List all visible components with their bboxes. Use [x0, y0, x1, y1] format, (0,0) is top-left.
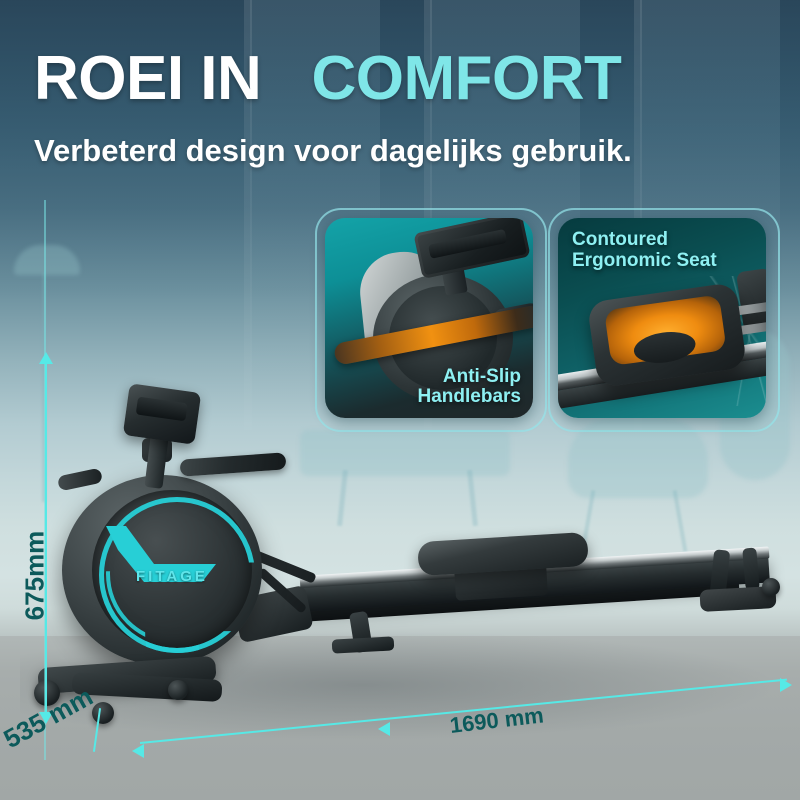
mid-foot [332, 636, 395, 653]
console-display [123, 383, 202, 445]
brand-logo-text: FITAGE [136, 568, 208, 585]
depth-arrow-left [378, 722, 390, 736]
transport-wheel [168, 680, 188, 700]
feature-label-line-2: Ergonomic Seat [572, 251, 717, 272]
feature-card-label-seat: Contoured Ergonomic Seat [572, 230, 717, 271]
headline-part-2: COMFORT [312, 44, 622, 113]
headline-part-1: ROEI IN [34, 44, 261, 113]
page-title: ROEI IN COMFORT [34, 48, 774, 110]
rear-wheel [762, 578, 780, 596]
length-arrow-left [132, 744, 144, 758]
console-art [413, 218, 530, 279]
product-image-rowing-machine: FITAGE [0, 380, 800, 780]
feature-label-line-1: Contoured [572, 230, 717, 251]
page-subtitle: Verbeterd design voor dagelijks gebruik. [34, 133, 774, 169]
dimension-label-height: 675mm [19, 531, 50, 621]
handlebar [180, 452, 287, 476]
length-arrow-right [780, 678, 792, 692]
product-banner: ROEI IN COMFORT Verbeterd design voor da… [0, 0, 800, 800]
handlebar-left-grip [57, 468, 103, 492]
height-arrow-up [39, 352, 53, 364]
